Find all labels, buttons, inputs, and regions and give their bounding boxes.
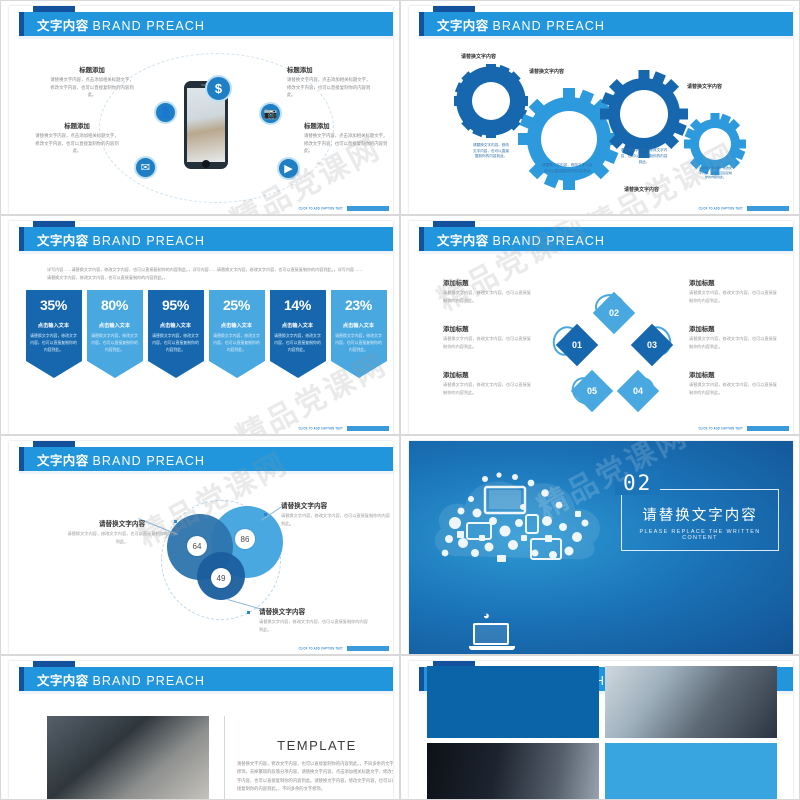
caption-4-body: 请替换文字内容，点击添加相关标题文字，修改文字内容，也可以直接复制你的内容到此。 <box>304 132 390 155</box>
slide-5-body: 64 86 49 请替换文字内容 请替换文字内容，修改文字内容，也可以直接复制你… <box>19 474 393 654</box>
venn-caption-bottom: 请替换文字内容 请替换文字内容，修改文字内容，也可以直接复制你的内容到此。 <box>259 606 369 633</box>
percent-desc: 请替换文字内容，修改文字内容，也可以直接复制你的内容到此。 <box>274 332 322 353</box>
slide-3-lead-text: 详写内容……请替换文字内容，修改文字内容，也可以直接复制你的内容到此。，详写内容… <box>19 266 393 282</box>
percent-banner-row: 35% 点击输入文本 请替换文字内容，修改文字内容，也可以直接复制你的内容到此。… <box>19 290 393 378</box>
slide-thumbnail-grid: 文字内容 BRAND PREACH $ 👤 📷 ✉ ▶ <box>0 0 800 800</box>
caption-4-title: 标题添加 <box>304 121 390 130</box>
caption-body: 请替换文字内容，修改文字内容，也可以直接复制你的内容到此。 <box>689 335 777 350</box>
caption-1: 标题添加 请替换文字内容，点击添加相关标题文字，修改文字内容，也可以直接复制你的… <box>49 65 135 99</box>
slide-7-body: TEMPLATE 请替换文字内容，修改文字内容，也可以直接复制你的内容到此。，不… <box>19 694 393 799</box>
caption-3-title: 标题添加 <box>34 121 120 130</box>
phone-home-button-icon <box>202 160 210 168</box>
page-title: 文字内容 BRAND PREACH <box>437 230 605 249</box>
cloud-of-icons-graphic <box>427 461 612 581</box>
percent-desc: 请替换文字内容，修改文字内容，也可以直接复制你的内容到此。 <box>30 332 78 353</box>
percent-desc: 请替换文字内容，修改文字内容，也可以直接复制你的内容到此。 <box>91 332 139 353</box>
footer-caption-text: CLICK TO ADD CAPTION TEXT <box>299 426 343 431</box>
node-number: 03 <box>647 340 657 350</box>
section-title-cn: 请替换文字内容 <box>622 504 778 525</box>
percent-subtitle: 点击输入文本 <box>30 322 78 329</box>
pentagon-node-05[interactable]: 05 <box>571 370 613 412</box>
gear-2-body: 请替换文字内容，修改文字内容，也可以直接复制你的内容到此。 <box>541 123 597 214</box>
caption-title: 添加标题 <box>443 324 531 333</box>
header-left-edge <box>19 667 24 691</box>
percent-banner[interactable]: 35% 点击输入文本 请替换文字内容，修改文字内容，也可以直接复制你的内容到此。 <box>26 290 82 378</box>
page-title: 文字内容 BRAND PREACH <box>37 450 205 469</box>
page-title: 文字内容 BRAND PREACH <box>37 230 205 249</box>
slide-thumbnail-5[interactable]: 文字内容 BRAND PREACH 64 86 49 请替换文字内容 <box>0 435 400 655</box>
percent-value: 35% <box>30 297 78 313</box>
node-number: 04 <box>633 386 643 396</box>
leader-dot-bot <box>247 611 250 614</box>
caption-title: 添加标题 <box>689 324 777 333</box>
business-team-photo[interactable] <box>605 666 777 738</box>
play-icon[interactable]: ▶ <box>277 157 300 180</box>
venn-caption-left: 请替换文字内容 请替换文字内容，修改文字内容，也可以直接复制你的内容到此。 <box>67 518 177 545</box>
laptop-base <box>469 646 515 650</box>
cloud-icon-cluster-svg <box>427 461 612 581</box>
percent-subtitle: 点击输入文本 <box>91 322 139 329</box>
gear-4-label: 请替换文字内容 <box>687 83 722 90</box>
footer-caption: CLICK TO ADD CAPTION TEXT <box>299 206 389 211</box>
percent-banner[interactable]: 23% 点击输入文本 请替换文字内容，修改文字内容，也可以直接复制你的内容到此。 <box>331 290 387 378</box>
slide4-caption-right-1: 添加标题 请替换文字内容，修改文字内容，也可以直接复制你的内容到此。 <box>689 278 777 304</box>
footer-bar <box>347 426 389 431</box>
percent-desc: 请替换文字内容，修改文字内容，也可以直接复制你的内容到此。 <box>213 332 261 353</box>
leader-dot-right <box>264 513 267 516</box>
slide-2-body: 请替换文字内容，修改文字内容，也可以直接复制你的内容到此。 请替换文字内容，修改… <box>419 39 793 214</box>
percent-desc: 请替换文字内容，修改文字内容，也可以直接复制你的内容到此。 <box>335 332 383 353</box>
percent-value: 95% <box>152 297 200 313</box>
footer-caption-text: CLICK TO ADD CAPTION TEXT <box>699 426 743 431</box>
node-number: 01 <box>572 340 582 350</box>
slide-6-background: ◕ 请替换文字内容 PLEASE REPLACE THE WRITTEN CON… <box>409 441 793 654</box>
caption-2-title: 标题添加 <box>287 65 373 74</box>
wifi-icon: ◕ <box>483 610 490 622</box>
percent-subtitle: 点击输入文本 <box>213 322 261 329</box>
page-title: 文字内容 BRAND PREACH <box>437 15 605 34</box>
caption-body: 请替换文字内容，修改文字内容，也可以直接复制你的内容到此。 <box>281 512 391 527</box>
percent-subtitle: 点击输入文本 <box>335 322 383 329</box>
caption-title: 添加标题 <box>689 370 777 379</box>
caption-1-title: 标题添加 <box>49 65 135 74</box>
footer-bar <box>747 426 789 431</box>
camera-icon[interactable]: 📷 <box>259 102 282 125</box>
caption-body: 请替换文字内容，修改文字内容，也可以直接复制你的内容到此。 <box>689 381 777 396</box>
percent-banner[interactable]: 95% 点击输入文本 请替换文字内容，修改文字内容，也可以直接复制你的内容到此。 <box>148 290 204 378</box>
caption-title: 添加标题 <box>443 370 531 379</box>
header-left-edge <box>19 12 24 36</box>
slide-1-body: $ 👤 📷 ✉ ▶ 标题添加 请替换文字内容，点击添加相关标题文字，修改文字内容… <box>19 39 393 214</box>
slide-8-body <box>409 661 793 799</box>
percent-desc: 请替换文字内容，修改文字内容，也可以直接复制你的内容到此。 <box>152 332 200 353</box>
footer-caption-text: CLICK TO ADD CAPTION TEXT <box>299 646 343 651</box>
footer-caption: CLICK TO ADD CAPTION TEXT <box>699 206 789 211</box>
blue-block-tile[interactable] <box>427 666 599 738</box>
page-title: 文字内容 BRAND PREACH <box>37 15 205 34</box>
percent-banner[interactable]: 25% 点击输入文本 请替换文字内容，修改文字内容，也可以直接复制你的内容到此。 <box>209 290 265 378</box>
caption-title: 添加标题 <box>689 278 777 287</box>
slide-thumbnail-4[interactable]: 文字内容 BRAND PREACH 02 01 03 05 04 添加标题 请替… <box>400 215 800 435</box>
caption-1-body: 请替换文字内容，点击添加相关标题文字，修改文字内容，也可以直接复制你的内容到此。 <box>49 76 135 99</box>
caption-body: 请替换文字内容，修改文字内容，也可以直接复制你的内容到此。 <box>443 335 531 350</box>
gear-3-body: 请替换文字内容，修改文字内容，也可以直接复制你的内容到此。 <box>620 100 668 214</box>
percent-value: 80% <box>91 297 139 313</box>
user-icon[interactable]: 👤 <box>154 101 177 124</box>
footer-bar <box>347 206 389 211</box>
slide-4-body: 02 01 03 05 04 添加标题 请替换文字内容，修改文字内容，也可以直接… <box>419 254 793 434</box>
caption-body: 请替换文字内容，修改文字内容，也可以直接复制你的内容到此。 <box>443 289 531 304</box>
laptop-icon <box>469 623 513 650</box>
gear-1-body: 请替换文字内容，修改文字内容，也可以直接复制你的内容到此。 <box>472 89 510 214</box>
page-title: 文字内容 BRAND PREACH <box>37 670 205 689</box>
slide4-caption-right-3: 添加标题 请替换文字内容，修改文字内容，也可以直接复制你的内容到此。 <box>689 370 777 396</box>
slide-thumbnail-1[interactable]: 文字内容 BRAND PREACH $ 👤 📷 ✉ ▶ <box>0 0 400 215</box>
footer-caption-text: CLICK TO ADD CAPTION TEXT <box>699 206 743 211</box>
venn-value-86: 86 <box>235 529 255 549</box>
slide-header-bar: 文字内容 BRAND PREACH <box>419 12 793 36</box>
slide4-caption-left-2: 添加标题 请替换文字内容，修改文字内容，也可以直接复制你的内容到此。 <box>443 324 531 350</box>
slide-header-bar: 文字内容 BRAND PREACH <box>19 227 393 251</box>
venn-value-49: 49 <box>211 568 231 588</box>
pentagon-node-04[interactable]: 04 <box>617 370 659 412</box>
node-number: 05 <box>587 386 597 396</box>
caption-body: 请替换文字内容，修改文字内容，也可以直接复制你的内容到此。 <box>689 289 777 304</box>
percent-banner[interactable]: 14% 点击输入文本 请替换文字内容，修改文字内容，也可以直接复制你的内容到此。 <box>270 290 326 378</box>
caption-4: 标题添加 请替换文字内容，点击添加相关标题文字，修改文字内容，也可以直接复制你的… <box>304 121 390 155</box>
caption-title: 添加标题 <box>443 278 531 287</box>
gear-4-body: 请替换文字内容，修改文字内容，也可以直接复制你的内容到此。 <box>699 132 732 214</box>
laptop-notebook-coffee-photo <box>47 716 209 799</box>
gear-3-label: 请替换文字内容 <box>624 186 659 193</box>
slide-7-heading: TEMPLATE <box>237 738 393 753</box>
man-with-magnifier-photo[interactable] <box>427 743 599 799</box>
slide-header-bar: 文字内容 BRAND PREACH <box>19 667 393 691</box>
header-left-edge <box>419 227 424 251</box>
slide4-caption-left-1: 添加标题 请替换文字内容，修改文字内容，也可以直接复制你的内容到此。 <box>443 278 531 304</box>
light-blue-block-tile[interactable] <box>605 743 777 799</box>
caption-3-body: 请替换文字内容，点击添加相关标题文字，修改文字内容，也可以直接复制你的内容到此。 <box>34 132 120 155</box>
slide-thumbnail-7[interactable]: 文字内容 BRAND PREACH TEMPLATE 请替换文字内容，修改文字内… <box>0 655 400 800</box>
mail-icon[interactable]: ✉ <box>134 156 157 179</box>
slide4-caption-left-3: 添加标题 请替换文字内容，修改文字内容，也可以直接复制你的内容到此。 <box>443 370 531 396</box>
venn-caption-right: 请替换文字内容 请替换文字内容，修改文字内容，也可以直接复制你的内容到此。 <box>281 500 391 527</box>
slide-7-body-text: 请替换文字内容，修改文字内容，也可以直接复制你的内容到此。，不同多余的文字修饰，… <box>237 760 393 794</box>
footer-caption: CLICK TO ADD CAPTION TEXT <box>299 646 389 651</box>
footer-bar <box>747 206 789 211</box>
header-left-edge <box>19 447 24 471</box>
slide-thumbnail-2[interactable]: 文字内容 BRAND PREACH <box>400 0 800 215</box>
header-left-edge <box>19 227 24 251</box>
caption-body: 请替换文字内容，修改文字内容，也可以直接复制你的内容到此。 <box>259 618 369 633</box>
venn-bubble-text: 86 <box>241 535 250 544</box>
footer-bar <box>347 646 389 651</box>
venn-bubble-text: 64 <box>193 542 202 551</box>
venn-value-64: 64 <box>187 536 207 556</box>
percent-value: 25% <box>213 297 261 313</box>
caption-title: 请替换文字内容 <box>67 518 177 528</box>
footer-caption: CLICK TO ADD CAPTION TEXT <box>699 426 789 431</box>
caption-title: 请替换文字内容 <box>281 500 391 510</box>
vertical-divider <box>224 716 225 799</box>
caption-2: 标题添加 请替换文字内容，点击添加相关标题文字，修改文字内容，也可以直接复制你的… <box>287 65 373 99</box>
percent-value: 23% <box>335 297 383 313</box>
dollar-icon[interactable]: $ <box>205 75 232 102</box>
section-title-frame: 请替换文字内容 PLEASE REPLACE THE WRITTEN CONTE… <box>621 489 779 551</box>
gear-1-label: 请替换文字内容 <box>461 53 496 60</box>
slide-header-bar: 文字内容 BRAND PREACH <box>419 227 793 251</box>
footer-caption-text: CLICK TO ADD CAPTION TEXT <box>299 206 343 211</box>
section-title-en: PLEASE REPLACE THE WRITTEN CONTENT <box>622 529 778 541</box>
slide4-caption-right-2: 添加标题 请替换文字内容，修改文字内容，也可以直接复制你的内容到此。 <box>689 324 777 350</box>
percent-subtitle: 点击输入文本 <box>152 322 200 329</box>
footer-caption: CLICK TO ADD CAPTION TEXT <box>299 426 389 431</box>
gear-2-label: 请替换文字内容 <box>529 68 564 75</box>
slide-3-body: 详写内容……请替换文字内容，修改文字内容，也可以直接复制你的内容到此。，详写内容… <box>19 254 393 434</box>
slide-thumbnail-8[interactable]: 文字内容 BRAND PREACH <box>400 655 800 800</box>
venn-bubble-text: 49 <box>217 574 226 583</box>
slide-header-bar: 文字内容 BRAND PREACH <box>19 12 393 36</box>
node-number: 02 <box>609 308 619 318</box>
slide-thumbnail-3[interactable]: 文字内容 BRAND PREACH 详写内容……请替换文字内容，修改文字内容，也… <box>0 215 400 435</box>
caption-title: 请替换文字内容 <box>259 606 369 616</box>
slide-header-bar: 文字内容 BRAND PREACH <box>19 447 393 471</box>
header-left-edge <box>419 12 424 36</box>
percent-banner[interactable]: 80% 点击输入文本 请替换文字内容，修改文字内容，也可以直接复制你的内容到此。 <box>87 290 143 378</box>
laptop-screen <box>473 623 509 645</box>
percent-value: 14% <box>274 297 322 313</box>
caption-3: 标题添加 请替换文字内容，点击添加相关标题文字，修改文字内容，也可以直接复制你的… <box>34 121 120 155</box>
slide-thumbnail-6[interactable]: ◕ 请替换文字内容 PLEASE REPLACE THE WRITTEN CON… <box>400 435 800 655</box>
caption-body: 请替换文字内容，修改文字内容，也可以直接复制你的内容到此。 <box>443 381 531 396</box>
section-number: 02 <box>615 471 660 495</box>
percent-subtitle: 点击输入文本 <box>274 322 322 329</box>
caption-2-body: 请替换文字内容，点击添加相关标题文字，修改文字内容，也可以直接复制你的内容到此。 <box>287 76 373 99</box>
caption-body: 请替换文字内容，修改文字内容，也可以直接复制你的内容到此。 <box>67 530 177 545</box>
